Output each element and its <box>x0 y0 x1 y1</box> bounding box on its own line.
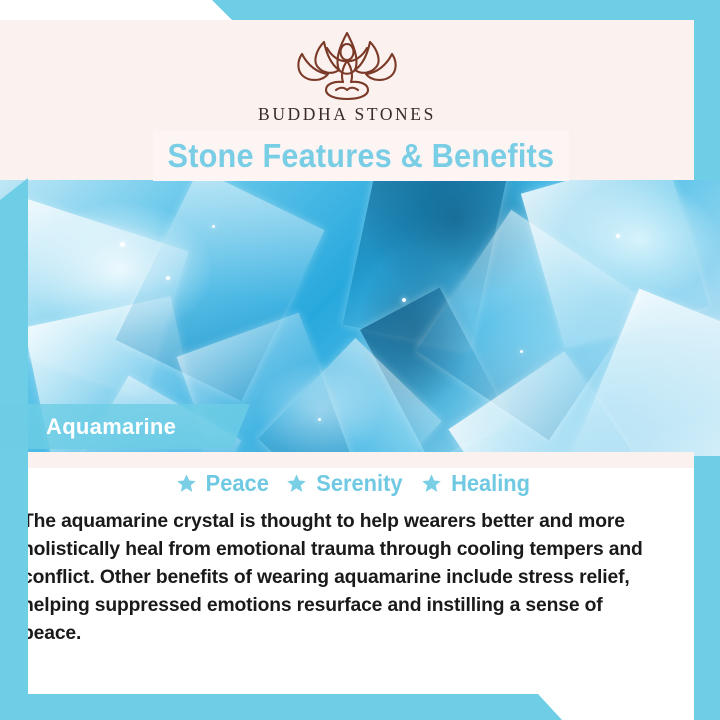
stone-description: The aquamarine crystal is thought to hel… <box>22 507 662 647</box>
keyword-label: Peace <box>205 470 268 497</box>
stone-name-tag: Aquamarine <box>0 404 250 449</box>
keyword-row: Peace Serenity Healing <box>0 470 694 497</box>
star-icon <box>421 473 442 494</box>
star-icon <box>176 473 197 494</box>
keyword-label: Healing <box>451 470 530 497</box>
bottom-accent-band <box>0 694 720 720</box>
title-plate: Stone Features & Benefits <box>153 131 569 181</box>
left-accent-band <box>0 178 28 720</box>
star-icon <box>286 473 307 494</box>
brand-lockup: BUDDHA STONES <box>258 26 436 125</box>
stone-name-label: Aquamarine <box>46 414 176 440</box>
body-card: Peace Serenity Healing The aquamarine cr… <box>0 468 694 694</box>
keyword-item: Peace <box>176 470 271 497</box>
keyword-item: Serenity <box>286 470 405 497</box>
keyword-item: Healing <box>421 470 532 497</box>
lotus-meditation-icon <box>272 26 422 102</box>
stone-features-poster: BUDDHA STONES Stone Features & Benefits … <box>0 0 720 720</box>
page-title: Stone Features & Benefits <box>168 137 555 175</box>
brand-name: BUDDHA STONES <box>258 104 436 125</box>
keyword-label: Serenity <box>317 470 403 497</box>
